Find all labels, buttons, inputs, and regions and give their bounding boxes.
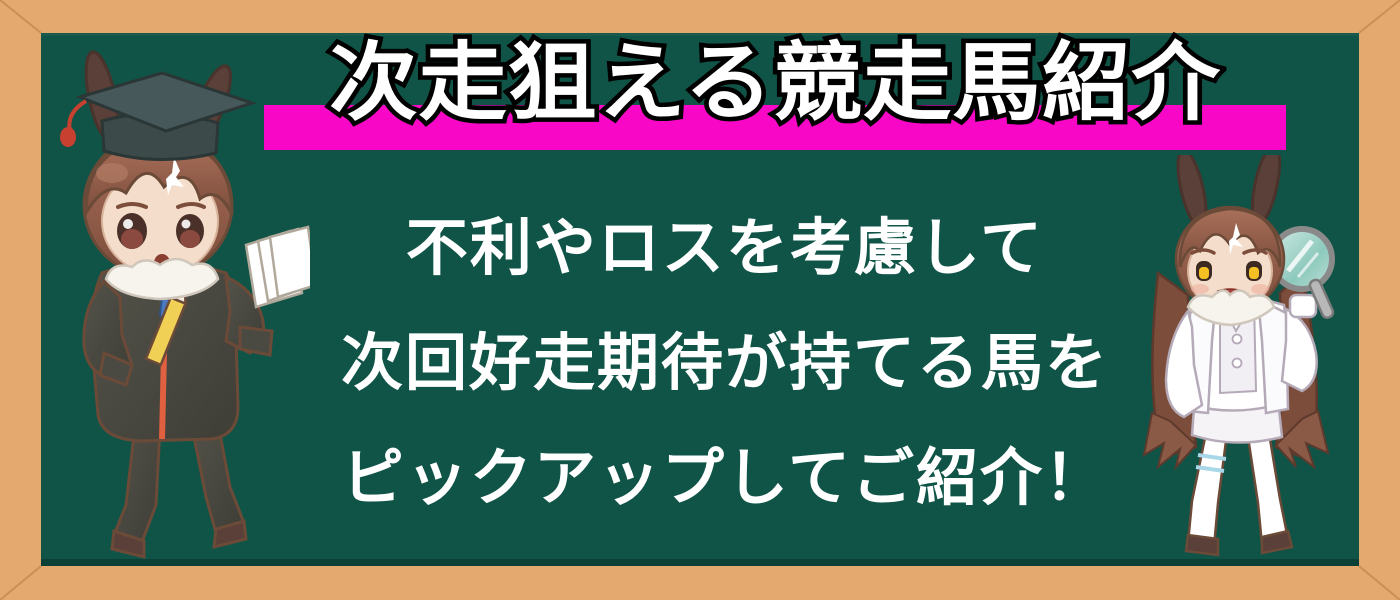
body-line-3: ピックアップしてご紹介！ [300, 420, 1150, 535]
title-block: 次走狙える競走馬紹介 [264, 25, 1286, 170]
body-line-2: 次回好走期待が持てる馬を [300, 305, 1150, 420]
body-line-1: 不利やロスを考慮して [300, 190, 1150, 305]
body-copy: 不利やロスを考慮して 次回好走期待が持てる馬を ピックアップしてご紹介！ [300, 190, 1150, 535]
page-title: 次走狙える競走馬紹介 [244, 25, 1307, 143]
illustration-researcher-girl [1130, 155, 1365, 565]
banner-root: 次走狙える競走馬紹介 不利やロスを考慮して 次回好走期待が持てる馬を ピックアッ… [0, 0, 1400, 600]
